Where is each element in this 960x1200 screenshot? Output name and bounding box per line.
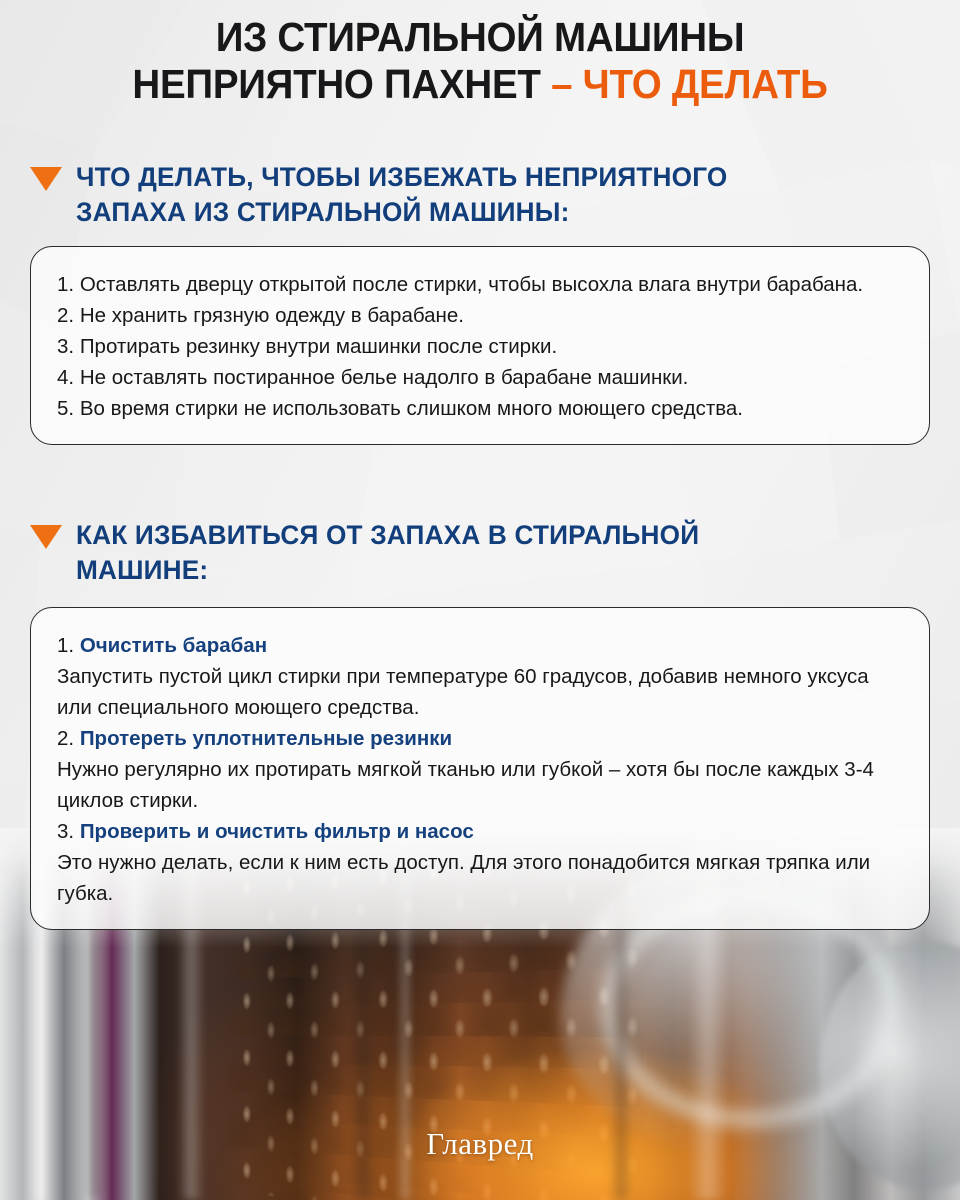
section-1-heading-line-2: ЗАПАХА ИЗ СТИРАЛЬНОЙ МАШИНЫ:	[76, 195, 728, 230]
list-item-text: Не хранить грязную одежду в барабане.	[80, 304, 464, 327]
list-item-number: 1.	[57, 273, 74, 296]
list-item: 3. Протирать резинку внутри машинки посл…	[57, 331, 903, 362]
list-item-number: 2.	[57, 304, 74, 327]
list-item-text: Во время стирки не использовать слишком …	[80, 397, 743, 420]
list-item: 4. Не оставлять постиранное белье надолг…	[57, 362, 903, 393]
title-line-2: НЕПРИЯТНО ПАХНЕТ – ЧТО ДЕЛАТЬ	[46, 61, 915, 108]
section-2-heading: КАК ИЗБАВИТЬСЯ ОТ ЗАПАХА В СТИРАЛЬНОЙ МА…	[30, 518, 930, 588]
triangle-down-icon	[30, 167, 62, 191]
list-item-heading: 2. Протереть уплотнительные резинки	[57, 723, 903, 754]
section-2-heading-line-1: КАК ИЗБАВИТЬСЯ ОТ ЗАПАХА В СТИРАЛЬНОЙ	[76, 518, 699, 553]
section-1-heading: ЧТО ДЕЛАТЬ, ЧТОБЫ ИЗБЕЖАТЬ НЕПРИЯТНОГО З…	[30, 160, 930, 230]
list-item-number: 3.	[57, 335, 74, 358]
list-item: 2. Не хранить грязную одежду в барабане.	[57, 300, 903, 331]
list-item-body: Нужно регулярно их протирать мягкой ткан…	[57, 754, 903, 816]
list-item-text: Не оставлять постиранное белье надолго в…	[80, 366, 689, 389]
list-item-number: 4.	[57, 366, 74, 389]
list-item-number: 3.	[57, 820, 74, 843]
list-item-text: Оставлять дверцу открытой после стирки, …	[80, 273, 863, 296]
list-item-text: Протирать резинку внутри машинки после с…	[80, 335, 557, 358]
card-prevention-tips: 1. Оставлять дверцу открытой после стирк…	[30, 246, 930, 445]
section-2-heading-line-2: МАШИНЕ:	[76, 553, 699, 588]
card-removal-steps: 1. Очистить барабан Запустить пустой цик…	[30, 607, 930, 930]
list-item-subtitle: Проверить и очистить фильтр и насос	[80, 820, 474, 843]
infographic-page: ИЗ СТИРАЛЬНОЙ МАШИНЫ НЕПРИЯТНО ПАХНЕТ – …	[0, 0, 960, 1200]
title-line-1: ИЗ СТИРАЛЬНОЙ МАШИНЫ	[46, 14, 915, 61]
page-title: ИЗ СТИРАЛЬНОЙ МАШИНЫ НЕПРИЯТНО ПАХНЕТ – …	[0, 14, 960, 108]
title-line-2-accent: – ЧТО ДЕЛАТЬ	[551, 61, 827, 107]
list-item-subtitle: Протереть уплотнительные резинки	[80, 727, 452, 750]
list-item-number: 1.	[57, 634, 74, 657]
triangle-down-icon	[30, 525, 62, 549]
list-item: 1. Оставлять дверцу открытой после стирк…	[57, 269, 903, 300]
list-item-body: Это нужно делать, если к ним есть доступ…	[57, 847, 903, 909]
list-item-heading: 3. Проверить и очистить фильтр и насос	[57, 816, 903, 847]
section-2-heading-text: КАК ИЗБАВИТЬСЯ ОТ ЗАПАХА В СТИРАЛЬНОЙ МА…	[76, 518, 699, 588]
section-1-heading-text: ЧТО ДЕЛАТЬ, ЧТОБЫ ИЗБЕЖАТЬ НЕПРИЯТНОГО З…	[76, 160, 728, 230]
section-1-heading-line-1: ЧТО ДЕЛАТЬ, ЧТОБЫ ИЗБЕЖАТЬ НЕПРИЯТНОГО	[76, 160, 728, 195]
watermark-logo: Главред	[0, 1126, 960, 1162]
list-item-number: 5.	[57, 397, 74, 420]
list-item: 5. Во время стирки не использовать слишк…	[57, 393, 903, 424]
list-item-body: Запустить пустой цикл стирки при темпера…	[57, 661, 903, 723]
list-item-heading: 1. Очистить барабан	[57, 630, 903, 661]
title-line-2-main: НЕПРИЯТНО ПАХНЕТ	[132, 61, 551, 107]
list-item-subtitle: Очистить барабан	[80, 634, 267, 657]
list-item-number: 2.	[57, 727, 74, 750]
